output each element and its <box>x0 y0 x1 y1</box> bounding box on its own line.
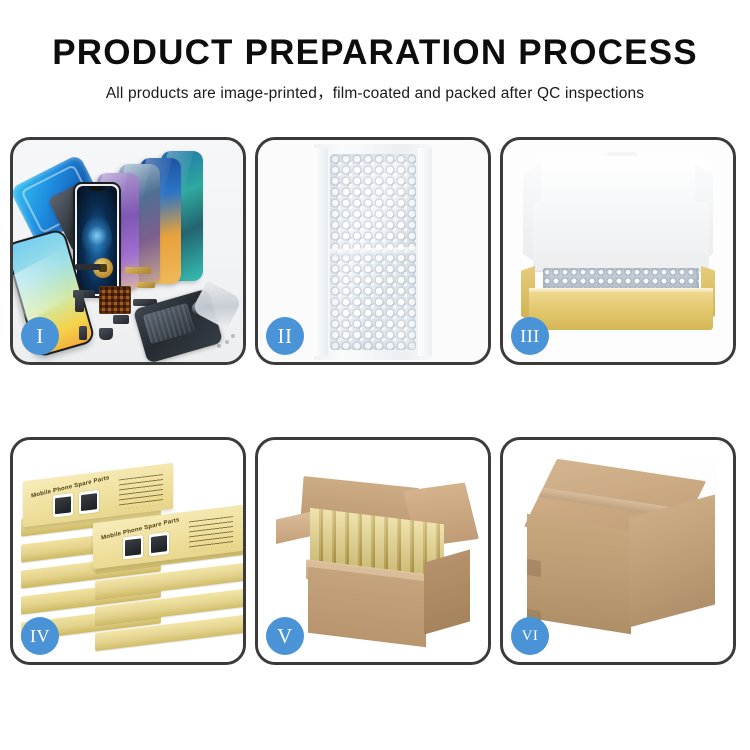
carton-body-front <box>308 567 426 647</box>
box-art-screen-b <box>79 490 99 514</box>
step-panel-6[interactable]: VI <box>500 437 736 665</box>
step-badge-5: V <box>266 617 304 655</box>
carton-tape-mark-upper <box>527 559 541 577</box>
sealed-carton <box>519 460 723 650</box>
sim-tray-part <box>79 326 87 340</box>
page-header: PRODUCT PREPARATION PROCESS All products… <box>0 32 750 104</box>
phone-front-glass <box>73 182 121 298</box>
carton-right-face <box>629 494 715 627</box>
speaker-part <box>113 315 129 324</box>
step-badge-4: IV <box>21 617 59 655</box>
open-carton <box>276 464 476 648</box>
box-inner-wall <box>533 202 709 270</box>
taptic-part <box>99 328 113 340</box>
step-badge-1: I <box>21 317 59 355</box>
screw-c <box>231 334 235 338</box>
box-spec-text-lines <box>189 516 233 551</box>
sleeve-seal-left <box>314 148 328 356</box>
box-art-screen-a <box>123 535 143 559</box>
flex-cable-part-b <box>137 282 155 288</box>
flex-cable-part-a <box>125 267 151 274</box>
page-subtitle: All products are image-printed，film-coat… <box>0 84 750 104</box>
step-panel-4[interactable]: Mobile Phone Spare Parts Mobile Phone Sp… <box>10 437 246 665</box>
step-panel-5[interactable]: V <box>255 437 491 665</box>
screw-a <box>225 340 229 344</box>
step-badge-3: III <box>511 317 549 355</box>
step-badge-6: VI <box>511 617 549 655</box>
step-panel-3[interactable]: III <box>500 137 736 365</box>
battery-strip-part <box>75 264 101 270</box>
carton-front-face <box>527 514 631 634</box>
step-panel-2[interactable]: II <box>255 137 491 365</box>
step-panel-1[interactable]: I <box>10 137 246 365</box>
box-spec-text-lines <box>119 474 163 509</box>
bubble-wrap-icon <box>330 154 416 350</box>
box-front-panel <box>529 292 713 330</box>
page-title: PRODUCT PREPARATION PROCESS <box>0 32 750 74</box>
step-badge-2: II <box>266 317 304 355</box>
carton-body-right <box>424 549 470 634</box>
sleeve-seal-right <box>418 148 432 356</box>
box-art-screen-a <box>53 493 73 517</box>
connector-grid-icon <box>99 286 131 314</box>
connector-part-b <box>75 290 84 312</box>
screw-b <box>217 344 221 348</box>
product-preparation-page: PRODUCT PREPARATION PROCESS All products… <box>0 0 750 750</box>
process-step-grid: I II <box>10 137 740 737</box>
box-art-screen-b <box>149 532 169 556</box>
